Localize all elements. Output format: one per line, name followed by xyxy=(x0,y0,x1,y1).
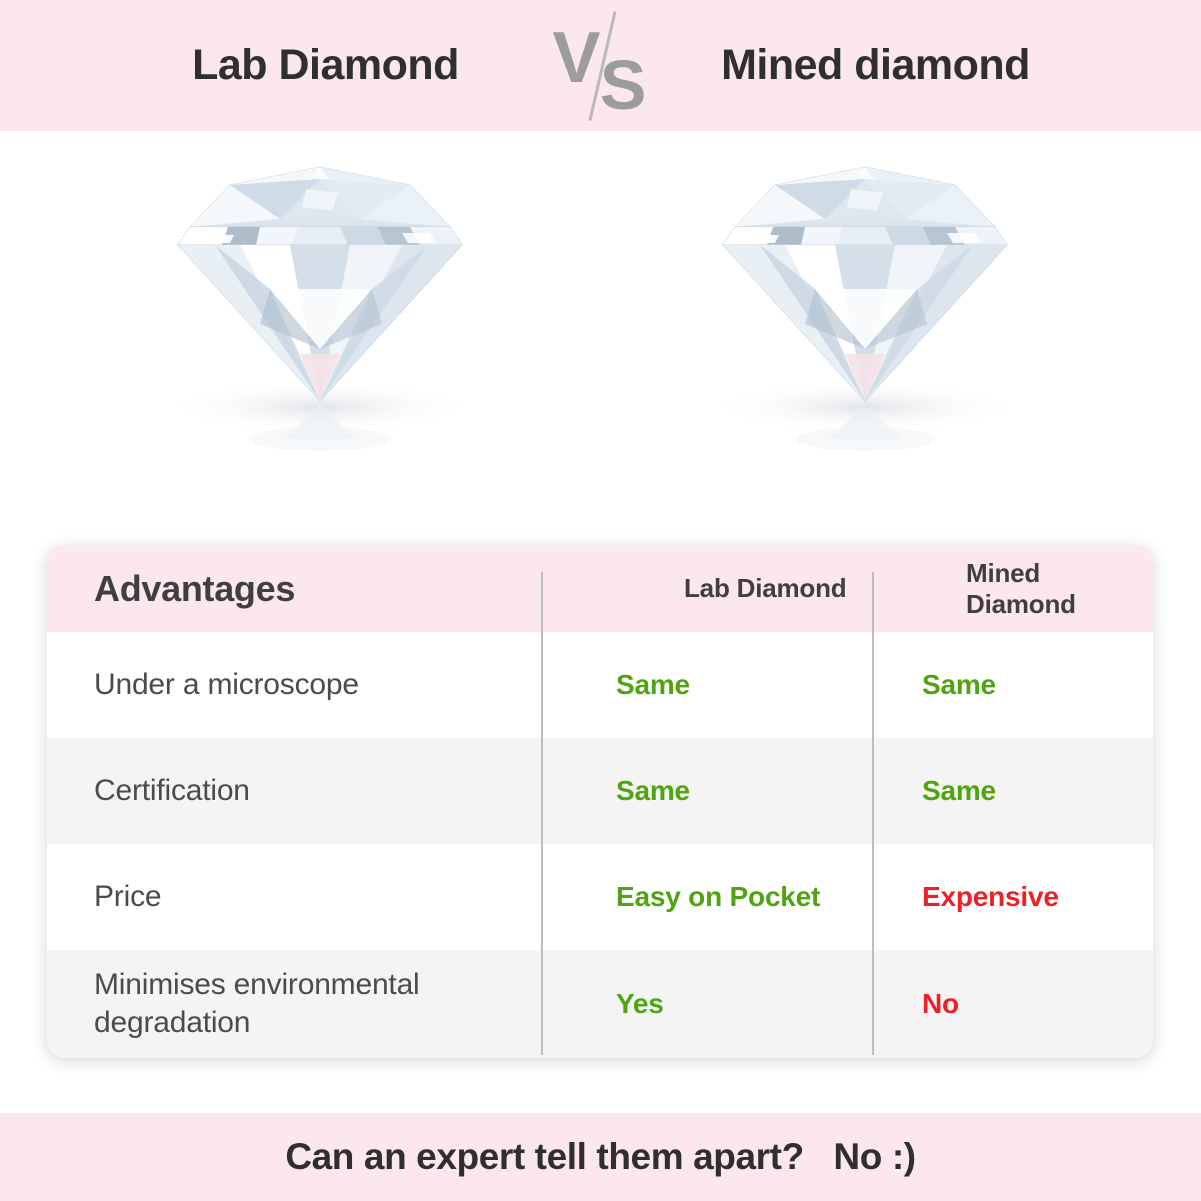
footer-question-text: Can an expert tell them apart? No :) xyxy=(285,1136,915,1178)
table-header-advantages: Advantages xyxy=(47,568,541,610)
diamond-images-section xyxy=(0,131,1201,531)
row-lab-cell: Same xyxy=(541,738,872,844)
mined-diamond-image xyxy=(655,149,1075,479)
row-lab-cell: Same xyxy=(541,632,872,738)
table-row: Minimises environmental degradation Yes … xyxy=(47,950,1153,1058)
row-mined-value: Same xyxy=(922,669,996,701)
vs-badge: V S xyxy=(541,6,661,126)
page-title-mined-diamond: Mined diamond xyxy=(661,41,1091,90)
row-lab-cell: Yes xyxy=(541,950,872,1058)
header-col2-text: Mined Diamond xyxy=(922,558,1153,620)
vs-letter-s: S xyxy=(600,50,647,120)
row-label-cell: Minimises environmental degradation xyxy=(47,950,541,1058)
row-label-cell: Certification xyxy=(47,738,541,844)
row-label-cell: Price xyxy=(47,844,541,950)
page-title-lab-diamond: Lab Diamond xyxy=(111,41,541,90)
row-label-cell: Under a microscope xyxy=(47,632,541,738)
row-mined-cell: Same xyxy=(872,738,1153,844)
row-mined-value: Expensive xyxy=(922,881,1059,913)
column-divider-2 xyxy=(872,572,874,1055)
row-lab-cell: Easy on Pocket xyxy=(541,844,872,950)
lab-diamond-image xyxy=(110,149,530,479)
row-mined-value: Same xyxy=(922,775,996,807)
bottom-banner: Can an expert tell them apart? No :) xyxy=(0,1113,1201,1201)
column-divider-1 xyxy=(541,572,543,1055)
table-row: Price Easy on Pocket Expensive xyxy=(47,844,1153,950)
row-mined-cell: Same xyxy=(872,632,1153,738)
table-header-lab-diamond: Lab Diamond xyxy=(541,573,872,604)
row-lab-value: Same xyxy=(616,775,690,807)
table-header-mined-diamond: Mined Diamond xyxy=(872,558,1153,620)
row-mined-value: No xyxy=(922,988,959,1020)
row-label-text: Under a microscope xyxy=(94,666,359,704)
header-label-text: Advantages xyxy=(94,568,295,610)
table-row: Certification Same Same xyxy=(47,738,1153,844)
diamond-icon xyxy=(655,149,1075,479)
table-row: Under a microscope Same Same xyxy=(47,632,1153,738)
row-mined-cell: No xyxy=(872,950,1153,1058)
row-label-text: Minimises environmental degradation xyxy=(94,966,541,1043)
row-lab-value: Easy on Pocket xyxy=(616,881,820,913)
top-banner: Lab Diamond V S Mined diamond xyxy=(0,0,1201,131)
header-col1-text: Lab Diamond xyxy=(616,573,846,604)
row-lab-value: Same xyxy=(616,669,690,701)
row-label-text: Price xyxy=(94,878,161,916)
comparison-table: Advantages Lab Diamond Mined Diamond Und… xyxy=(47,545,1153,1058)
vs-letter-v: V xyxy=(553,22,601,94)
row-label-text: Certification xyxy=(94,772,250,810)
row-mined-cell: Expensive xyxy=(872,844,1153,950)
row-lab-value: Yes xyxy=(616,988,664,1020)
table-header-row: Advantages Lab Diamond Mined Diamond xyxy=(47,545,1153,632)
diamond-icon xyxy=(110,149,530,479)
